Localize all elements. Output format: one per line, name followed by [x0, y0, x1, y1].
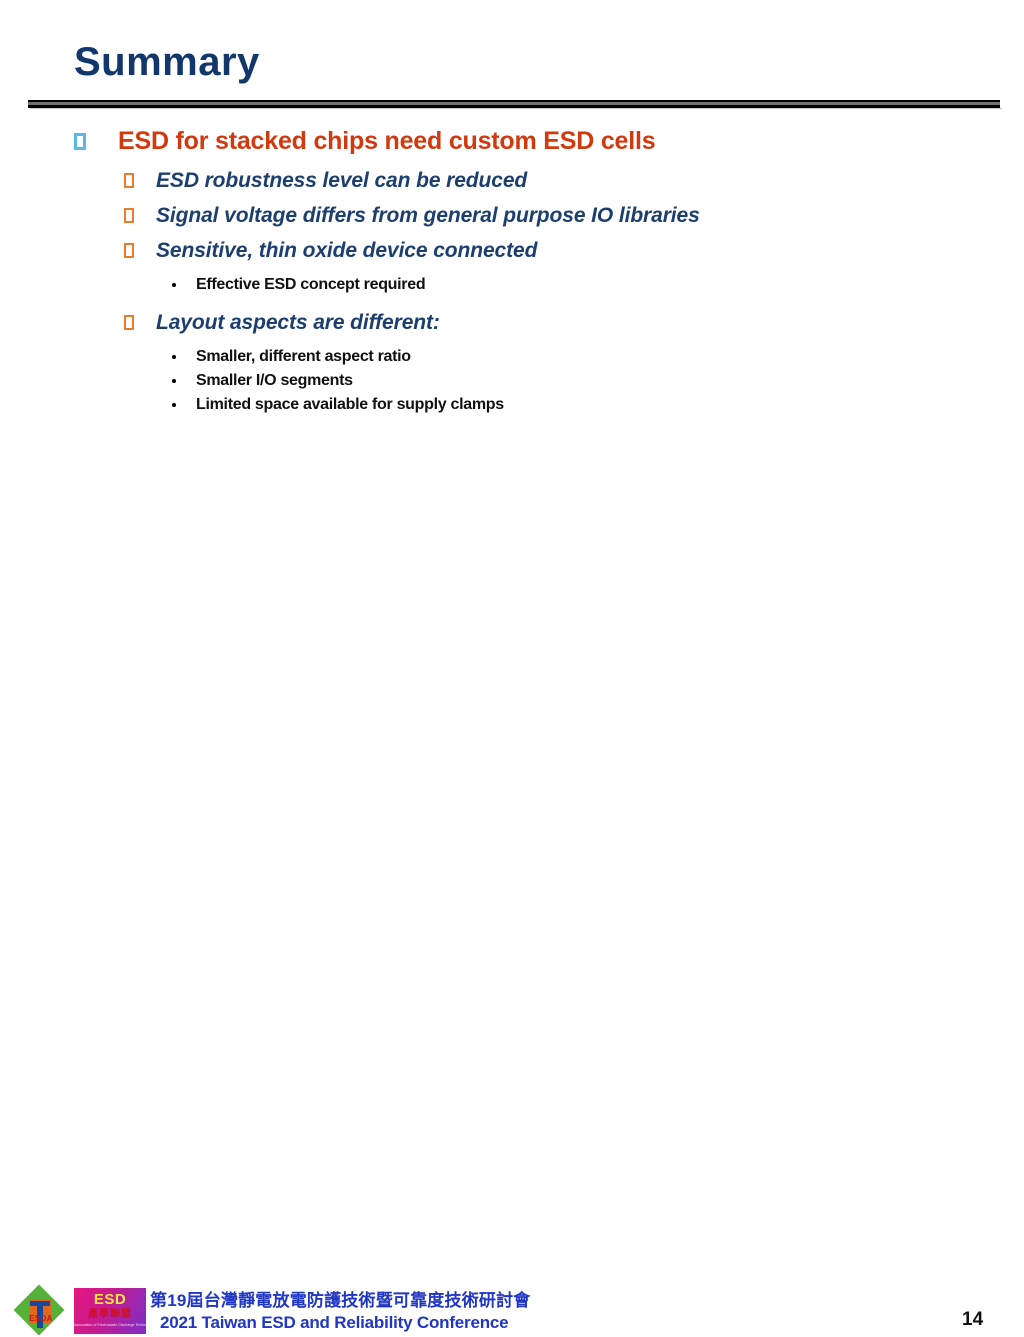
- divider-shadow: [30, 108, 1002, 109]
- esd-alliance-logo-icon: ESD 產學聯盟 Association of Electrostatic Di…: [74, 1288, 146, 1334]
- bullet-level3-label: Smaller I/O segments: [196, 370, 353, 391]
- bullet-level2-label: Signal voltage differs from general purp…: [156, 202, 700, 229]
- bullet-level2-label: Layout aspects are different:: [156, 309, 440, 336]
- bullet-level1: ESD for stacked chips need custom ESD ce…: [0, 126, 1024, 157]
- conference-title-chinese: 第19屆台灣靜電放電防護技術暨可靠度技術研討會: [150, 1290, 531, 1312]
- hollow-square-bullet-icon: [124, 173, 134, 188]
- hollow-square-bullet-icon: [124, 315, 134, 330]
- conference-title: 第19屆台灣靜電放電防護技術暨可靠度技術研討會 2021 Taiwan ESD …: [150, 1290, 531, 1334]
- bullet-level1-label: ESD for stacked chips need custom ESD ce…: [118, 126, 655, 157]
- page-number: 14: [962, 1308, 1012, 1331]
- hollow-square-bullet-icon: [124, 243, 134, 258]
- bullet-level2-label: ESD robustness level can be reduced: [156, 167, 527, 194]
- hollow-square-bullet-icon: [74, 133, 86, 150]
- bullet-level2-label: Sensitive, thin oxide device connected: [156, 237, 537, 264]
- title-divider: [28, 100, 1000, 109]
- bullet-level3-label: Smaller, different aspect ratio: [196, 346, 411, 367]
- alliance-esd-label: ESD: [74, 1291, 146, 1308]
- slide: Summary ESD for stacked chips need custo…: [0, 0, 1024, 708]
- bullet-level3-label: Effective ESD concept required: [196, 274, 425, 295]
- round-dot-bullet-icon: [172, 403, 176, 407]
- round-dot-bullet-icon: [172, 283, 176, 287]
- alliance-subtitle-label: Association of Electrostatic Discharge T…: [74, 1323, 146, 1328]
- bullet-list: ESD for stacked chips need custom ESD ce…: [0, 126, 1024, 418]
- conference-title-english: 2021 Taiwan ESD and Reliability Conferen…: [150, 1312, 531, 1334]
- round-dot-bullet-icon: [172, 379, 176, 383]
- bullet-level3-io-segments: Smaller I/O segments: [0, 370, 1024, 391]
- bullet-level2-sensitive-oxide: Sensitive, thin oxide device connected: [0, 237, 1024, 264]
- round-dot-bullet-icon: [172, 355, 176, 359]
- bullet-level3-label: Limited space available for supply clamp…: [196, 394, 504, 415]
- esda-diamond-logo-icon: ESDA: [16, 1287, 66, 1337]
- bullet-level3-effective-esd: Effective ESD concept required: [0, 274, 1024, 295]
- alliance-chinese-label: 產學聯盟: [74, 1309, 146, 1321]
- bullet-level3-aspect-ratio: Smaller, different aspect ratio: [0, 346, 1024, 367]
- slide-footer: ESDA ESD 產學聯盟 Association of Electrostat…: [0, 640, 1024, 708]
- page-title: Summary: [74, 38, 260, 86]
- bullet-level3-limited-space: Limited space available for supply clamp…: [0, 394, 1024, 415]
- bullet-level2-esd-robustness: ESD robustness level can be reduced: [0, 167, 1024, 194]
- hollow-square-bullet-icon: [124, 208, 134, 223]
- bullet-level2-signal-voltage: Signal voltage differs from general purp…: [0, 202, 1024, 229]
- bullet-level2-layout-aspects: Layout aspects are different:: [0, 309, 1024, 336]
- esda-logo-label: ESDA: [23, 1314, 59, 1323]
